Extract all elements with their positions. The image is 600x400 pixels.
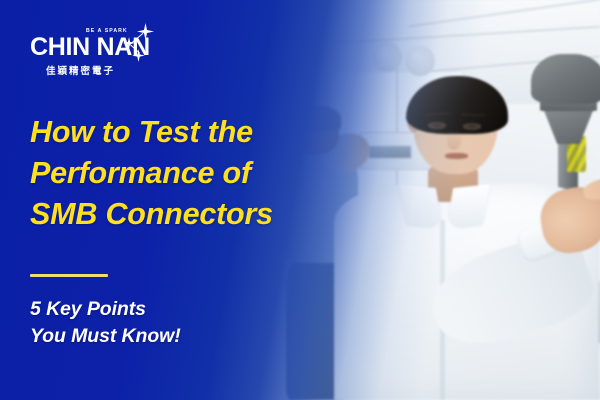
subtitle: 5 Key Points You Must Know! [30, 296, 330, 350]
page-title: How to Test the Performance of SMB Conne… [30, 112, 360, 235]
subtitle-line-2: You Must Know! [30, 323, 330, 350]
title-divider [30, 274, 108, 277]
logo-chinese-name: 佳穎精密電子 [46, 63, 115, 77]
chin-nan-logo[interactable]: BE A SPARK CHIN NAN 佳穎精密電子 [30, 28, 162, 80]
headline-line-1: How to Test the [30, 112, 360, 153]
headline-line-3: SMB Connectors [30, 194, 360, 235]
promotional-banner: BE A SPARK CHIN NAN 佳穎精密電子 How to Test t… [0, 0, 600, 400]
logo-wordmark: CHIN NAN [30, 35, 150, 60]
headline-line-2: Performance of [30, 153, 360, 194]
subtitle-line-1: 5 Key Points [30, 296, 330, 323]
